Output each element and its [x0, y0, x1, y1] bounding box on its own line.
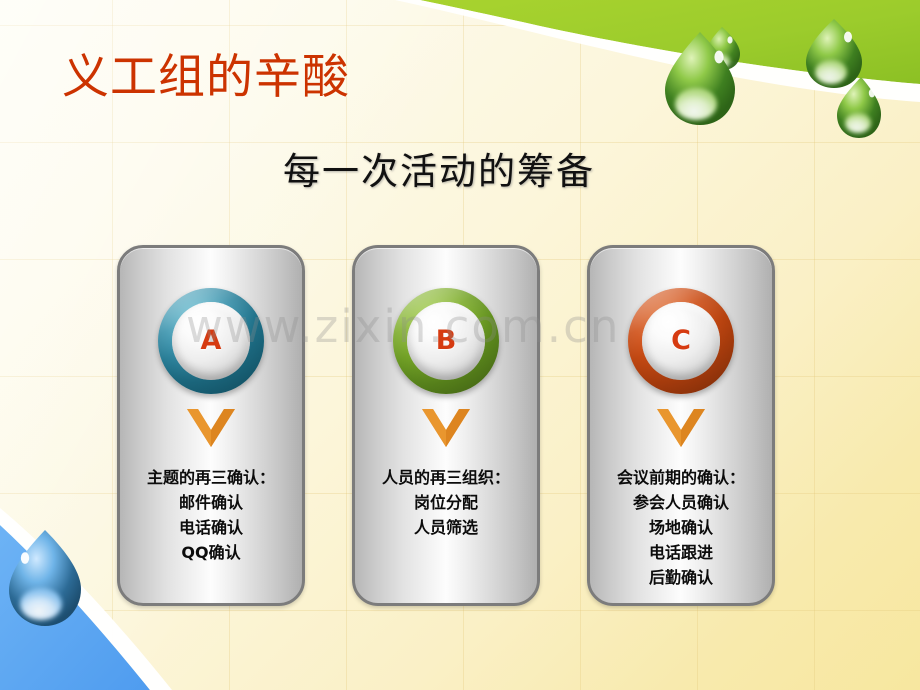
chevron-down-icon: [185, 406, 237, 450]
card-c[interactable]: C 会议前期的确认： 参会人员确认 场地确认 电话跟进 后勤: [587, 245, 775, 606]
card-b[interactable]: B 人员的再三组织： 岗位分配 人员筛选: [352, 245, 540, 606]
card-line: 参会人员确认: [596, 491, 766, 516]
card-line: QQ确认: [126, 541, 296, 566]
sphere-c: C: [642, 302, 720, 380]
card-line: 主题的再三确认：: [126, 466, 296, 491]
card-letter-b: B: [407, 302, 485, 380]
card-line: 邮件确认: [126, 491, 296, 516]
card-a[interactable]: A 主题的再三确认： 邮件确认 电话确认 QQ确认: [117, 245, 305, 606]
card-text-b: 人员的再三组织： 岗位分配 人员筛选: [355, 466, 537, 541]
card-line: 电话跟进: [596, 541, 766, 566]
chevron-down-icon: [420, 406, 472, 450]
card-line: 后勤确认: [596, 566, 766, 591]
sphere-a: A: [172, 302, 250, 380]
card-line: 会议前期的确认：: [596, 466, 766, 491]
badge-b[interactable]: B: [393, 288, 499, 394]
card-line: 人员筛选: [361, 516, 531, 541]
card-group: A 主题的再三确认： 邮件确认 电话确认 QQ确认: [0, 0, 920, 690]
sphere-b: B: [407, 302, 485, 380]
card-letter-c: C: [642, 302, 720, 380]
card-text-a: 主题的再三确认： 邮件确认 电话确认 QQ确认: [120, 466, 302, 566]
card-line: 岗位分配: [361, 491, 531, 516]
slide-canvas: 义工组的辛酸 每一次活动的筹备 A: [0, 0, 920, 690]
card-text-c: 会议前期的确认： 参会人员确认 场地确认 电话跟进 后勤确认: [590, 466, 772, 591]
card-letter-a: A: [172, 302, 250, 380]
chevron-down-icon: [655, 406, 707, 450]
badge-a[interactable]: A: [158, 288, 264, 394]
card-line: 人员的再三组织：: [361, 466, 531, 491]
card-line: 场地确认: [596, 516, 766, 541]
badge-c[interactable]: C: [628, 288, 734, 394]
card-line: 电话确认: [126, 516, 296, 541]
